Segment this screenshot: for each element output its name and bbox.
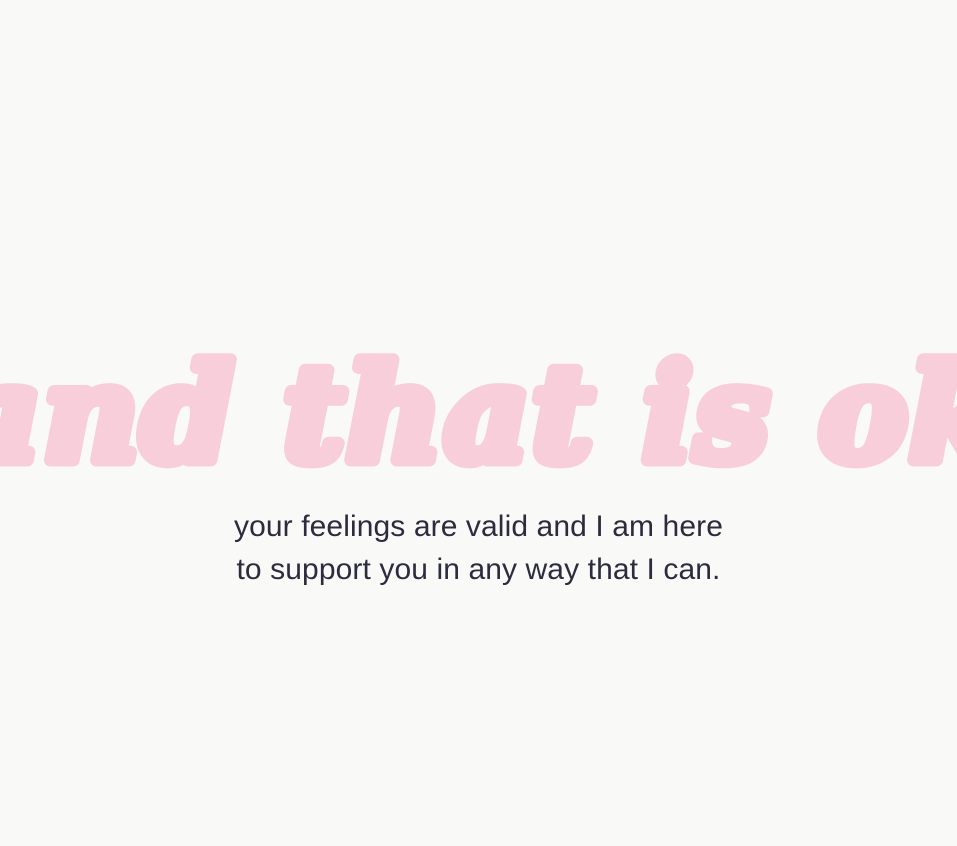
headline-script-graphic: and that is ok: [89, 330, 869, 505]
body-copy-line-2: to support you in any way that I can.: [0, 548, 957, 591]
headline-container: and that is ok: [0, 330, 957, 505]
body-copy: your feelings are valid and I am here to…: [0, 505, 957, 591]
body-copy-line-1: your feelings are valid and I am here: [0, 505, 957, 548]
headline-text: and that is ok: [0, 337, 957, 492]
affirmation-card: and that is ok your feelings are valid a…: [0, 0, 957, 846]
